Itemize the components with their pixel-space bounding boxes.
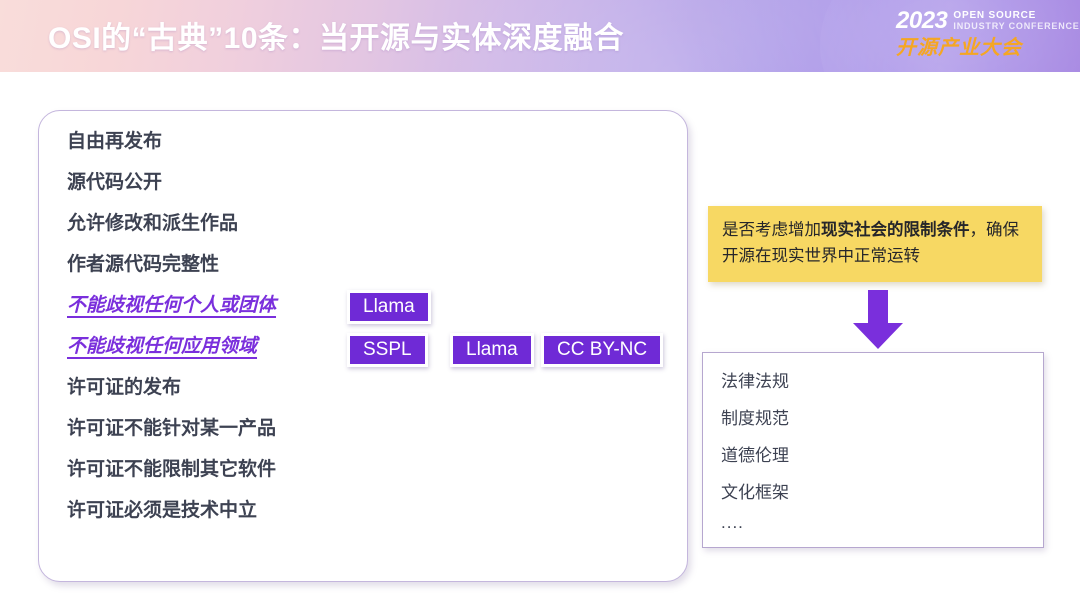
conference-logo: 2023 OPEN SOURCE INDUSTRY CONFERENCE 开源产… [896, 9, 1058, 65]
principle-item: 作者源代码完整性 [67, 244, 487, 285]
logo-english-line1: OPEN SOURCE [953, 10, 1079, 21]
license-tag-sspl[interactable]: SSPL [347, 333, 428, 367]
license-tag-llama-row1[interactable]: Llama [347, 290, 431, 324]
constraint-item: 制度规范 [721, 400, 789, 437]
page-header: OSI的“古典”10条：当开源与实体深度融合 2023 OPEN SOURCE … [0, 0, 1080, 72]
constraint-item: 道德伦理 [721, 437, 789, 474]
constraints-list: 法律法规制度规范道德伦理文化框架.... [721, 363, 789, 541]
principle-item: 许可证的发布 [67, 367, 487, 408]
principle-item: 自由再发布 [67, 121, 487, 162]
principle-item: 许可证不能针对某一产品 [67, 408, 487, 449]
principle-item: 允许修改和派生作品 [67, 203, 487, 244]
principle-item: 源代码公开 [67, 162, 487, 203]
license-tag-llama-row2[interactable]: Llama [450, 333, 534, 367]
logo-top-row: 2023 OPEN SOURCE INDUSTRY CONFERENCE [896, 9, 1058, 33]
constraint-item: .... [721, 511, 789, 541]
principle-item: 许可证必须是技术中立 [67, 490, 487, 531]
constraint-item: 文化框架 [721, 474, 789, 511]
reality-constraints-note: 是否考虑增加现实社会的限制条件，确保开源在现实世界中正常运转 [708, 206, 1042, 282]
logo-english-lines: OPEN SOURCE INDUSTRY CONFERENCE [953, 9, 1079, 32]
logo-english-line2: INDUSTRY CONFERENCE [953, 22, 1079, 32]
logo-year: 2023 [896, 9, 947, 33]
note-text-bold: 现实社会的限制条件 [821, 221, 970, 239]
constraint-item: 法律法规 [721, 363, 789, 400]
down-arrow-icon [851, 290, 905, 350]
page-title: OSI的“古典”10条：当开源与实体深度融合 [48, 13, 624, 57]
principle-item: 许可证不能限制其它软件 [67, 449, 487, 490]
osi-principles-list: 自由再发布源代码公开允许修改和派生作品作者源代码完整性不能歧视任何个人或团体不能… [67, 121, 487, 531]
note-text-before: 是否考虑增加 [722, 221, 821, 239]
logo-chinese-name: 开源产业大会 [896, 37, 1058, 59]
real-world-constraints-box: 法律法规制度规范道德伦理文化框架.... [702, 352, 1044, 548]
license-tag-cc-by-nc[interactable]: CC BY-NC [541, 333, 663, 367]
